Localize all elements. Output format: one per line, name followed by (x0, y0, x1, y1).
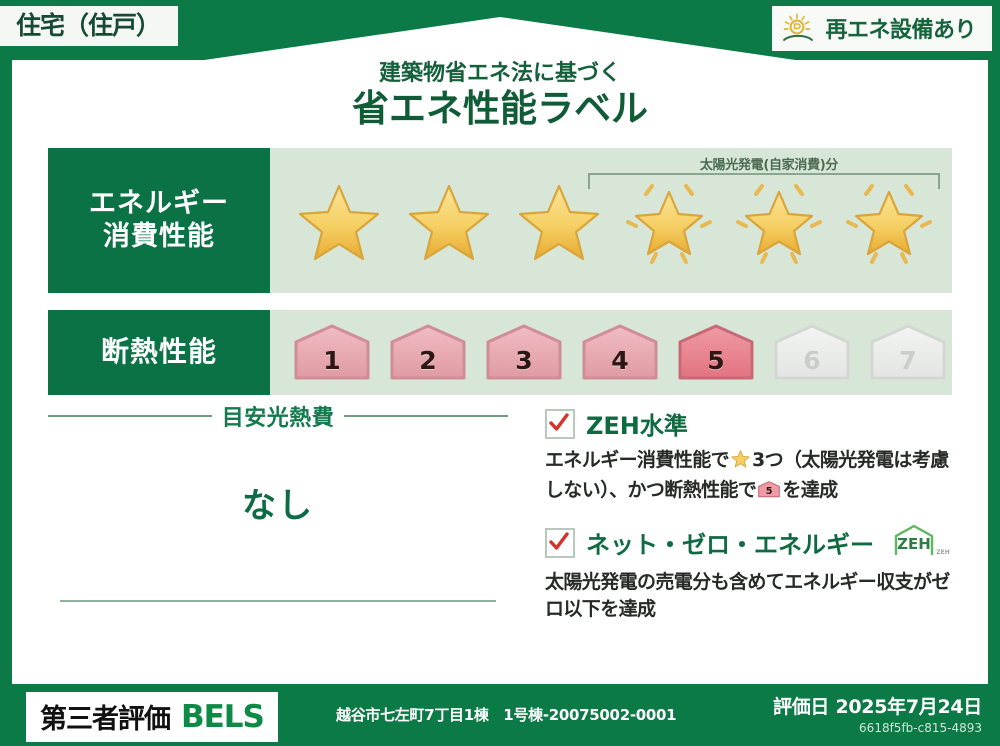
bels-jp-label: 第三者評価 (40, 697, 170, 736)
star-icon (730, 448, 751, 477)
energy-performance-row: エネルギー 消費性能 太陽光発電(自家消費)分 (48, 148, 952, 293)
solar-bracket (588, 173, 940, 189)
insulation-level-number: 6 (770, 346, 854, 375)
insulation-level-2: 2 (386, 322, 470, 384)
zeh-panel: ZEH水準 エネルギー消費性能で3つ（太陽光発電は考慮しない）、かつ断熱性能で5… (545, 406, 964, 639)
record-id: 6618f5fb-c815-4893 (773, 721, 982, 735)
label-title-group: 建築物省エネ法に基づく 省エネ性能ラベル (0, 62, 1000, 131)
title-main: 省エネ性能ラベル (0, 88, 1000, 131)
star-filled (292, 174, 386, 268)
utility-cost-value: なし (48, 478, 508, 527)
svg-text:ZEH: ZEH (897, 535, 931, 553)
net-zero-energy-description: 太陽光発電の売電分も含めてエネルギー収支がゼロ以下を達成 (545, 569, 964, 623)
energy-label-line1: エネルギー (89, 188, 229, 221)
label-footer: 第三者評価 BELS 越谷市七左町7丁目1棟 1号棟-20075002-0001… (0, 684, 1000, 746)
solar-annotation-text: 太陽光発電(自家消費)分 (594, 154, 944, 173)
insulation-level-number: 4 (578, 346, 662, 375)
energy-performance-body: 太陽光発電(自家消費)分 (270, 148, 952, 293)
energy-performance-label: 住宅（住戸） 再エネ設備あり 建築物省エネ法 (0, 0, 1000, 746)
zeh-desc-part1: エネルギー消費性能で (545, 449, 729, 471)
property-address: 越谷市七左町7丁目1棟 1号棟-20075002-0001 (336, 704, 676, 725)
insulation-level-scale: 1 2 3 4 (290, 310, 942, 395)
utility-cost-bottom-rule (60, 600, 496, 602)
insulation-level-number: 7 (866, 346, 950, 375)
utility-cost-panel: 目安光熱費 なし (48, 400, 508, 527)
title-subtitle: 建築物省エネ法に基づく (0, 62, 1000, 86)
housing-type-tag: 住宅（住戸） (0, 6, 178, 46)
house-5-icon: 5 (757, 480, 781, 507)
evaluation-date-group: 評価日 2025年7月24日 6618f5fb-c815-4893 (773, 692, 982, 735)
insulation-level-5-current: 5 (674, 322, 758, 384)
insulation-level-number: 5 (674, 346, 758, 375)
bels-chip: 第三者評価 BELS (26, 692, 278, 742)
zeh-standard-block: ZEH水準 エネルギー消費性能で3つ（太陽光発電は考慮しない）、かつ断熱性能で5… (545, 406, 964, 507)
net-zero-energy-title: ネット・ゼロ・エネルギー ZEH ZEH (545, 523, 964, 563)
net-zero-energy-block: ネット・ゼロ・エネルギー ZEH ZEH 太陽光発電の売電分も含めてエネルギー収… (545, 523, 964, 623)
checkbox-checked-icon (545, 528, 575, 558)
utility-cost-heading: 目安光熱費 (48, 400, 508, 432)
insulation-performance-label: 断熱性能 (48, 310, 270, 395)
star-filled (402, 174, 496, 268)
sun-icon (782, 13, 816, 43)
zeh-logo-icon: ZEH ZEH (891, 523, 953, 563)
renewable-equipment-badge: 再エネ設備あり (772, 6, 992, 51)
zeh-desc-part3: を達成 (782, 479, 837, 501)
utility-cost-heading-label: 目安光熱費 (222, 400, 335, 432)
insulation-level-6: 6 (770, 322, 854, 384)
insulation-level-number: 1 (290, 346, 374, 375)
renewable-badge-label: 再エネ設備あり (825, 12, 976, 44)
energy-performance-label: エネルギー 消費性能 (48, 148, 270, 293)
zeh-standard-title-text: ZEH水準 (586, 406, 688, 441)
evaluation-date-label: 評価日 (773, 696, 829, 718)
insulation-level-1: 1 (290, 322, 374, 384)
evaluation-date: 評価日 2025年7月24日 (773, 692, 982, 719)
energy-label-line2: 消費性能 (103, 221, 215, 254)
heading-rule-right (344, 415, 508, 417)
zeh-standard-description: エネルギー消費性能で3つ（太陽光発電は考慮しない）、かつ断熱性能で5を達成 (545, 447, 964, 507)
zeh-standard-title: ZEH水準 (545, 406, 964, 441)
insulation-level-number: 2 (386, 346, 470, 375)
net-zero-energy-title-text: ネット・ゼロ・エネルギー (586, 525, 874, 560)
insulation-level-3: 3 (482, 322, 566, 384)
insulation-performance-row: 断熱性能 1 (48, 310, 952, 395)
insulation-level-4: 4 (578, 322, 662, 384)
checkbox-checked-icon (545, 409, 575, 439)
svg-text:5: 5 (766, 486, 773, 497)
insulation-level-7: 7 (866, 322, 950, 384)
insulation-performance-body: 1 2 3 4 (270, 310, 952, 395)
bels-en-label: BELS (181, 699, 264, 735)
svg-text:ZEH: ZEH (936, 549, 949, 556)
insulation-level-number: 3 (482, 346, 566, 375)
evaluation-date-value: 2025年7月24日 (835, 696, 982, 718)
heading-rule-left (48, 415, 212, 417)
